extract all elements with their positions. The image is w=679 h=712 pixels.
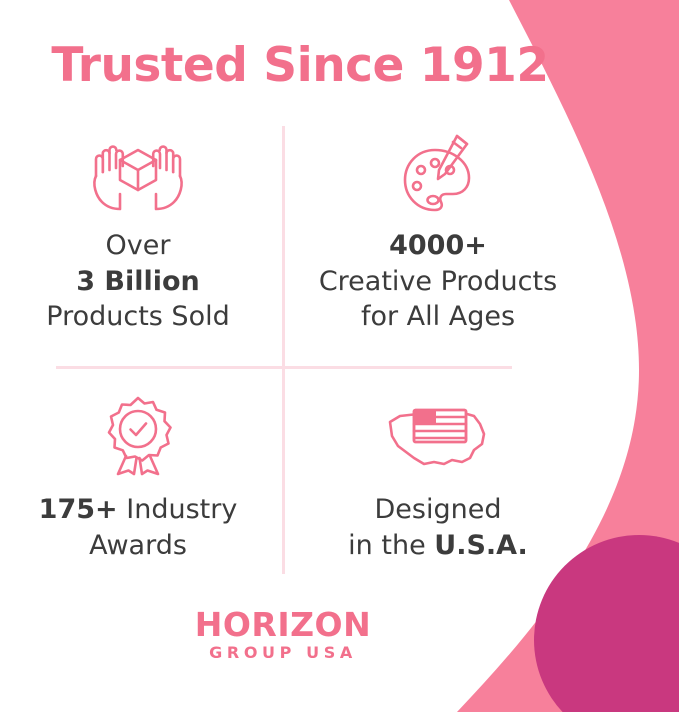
caption-line: Industry: [126, 494, 237, 525]
caption-line: for All Ages: [290, 299, 586, 335]
caption-line-bold: 3 Billion: [76, 266, 200, 297]
caption-line-bold: 4000+: [389, 230, 487, 261]
feature-cell-products-sold: Over 3 Billion Products Sold: [0, 130, 276, 335]
caption-line: in the: [348, 530, 426, 561]
logo-primary-text: HORIZON: [0, 608, 566, 641]
decorative-swoosh: [339, 0, 679, 712]
feature-cell-designed-in-usa: Designed in the U.S.A.: [290, 392, 586, 563]
feature-caption-designed-in-usa: Designed in the U.S.A.: [290, 492, 586, 563]
feature-cell-creative-products: 4000+ Creative Products for All Ages: [290, 130, 586, 335]
award-ribbon-check-icon: [0, 392, 276, 476]
promo-infographic: Trusted Since 1912: [0, 0, 679, 712]
horizontal-divider: [56, 366, 512, 369]
page-title: Trusted Since 1912: [0, 38, 600, 93]
vertical-divider: [282, 126, 285, 574]
caption-line: Designed: [290, 492, 586, 528]
hands-holding-box-icon: [0, 130, 276, 214]
caption-line: Awards: [0, 528, 276, 564]
feature-cell-industry-awards: 175+ Industry Awards: [0, 392, 276, 563]
feature-caption-creative-products: 4000+ Creative Products for All Ages: [290, 228, 586, 335]
usa-map-flag-icon: [290, 392, 586, 476]
caption-highlight: 175+: [39, 494, 118, 525]
paint-palette-brush-icon: [290, 130, 586, 214]
feature-caption-products-sold: Over 3 Billion Products Sold: [0, 228, 276, 335]
feature-caption-industry-awards: 175+ Industry Awards: [0, 492, 276, 563]
caption-highlight: U.S.A.: [434, 530, 528, 561]
brand-logo: HORIZON GROUP USA: [0, 608, 566, 661]
logo-secondary-text: GROUP USA: [0, 645, 566, 661]
caption-line: Over: [0, 228, 276, 264]
caption-line: Creative Products: [290, 264, 586, 300]
caption-line: Products Sold: [0, 299, 276, 335]
